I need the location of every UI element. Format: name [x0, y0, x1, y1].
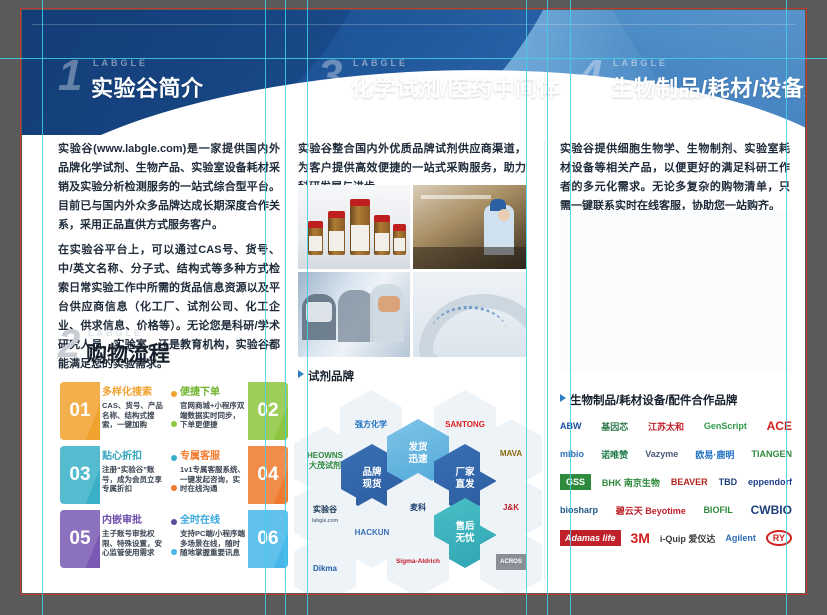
flow-step-05-number: 05 — [60, 510, 100, 568]
guide-horizontal — [0, 58, 827, 59]
brand-logo-vazyme: Vazyme — [645, 449, 678, 459]
hexagon-brand-cluster: 强方化学 SANTONG HEOWNS大茂试剂 品牌现货 发货迅速 厂家直发 — [294, 408, 534, 578]
flow-step-01-desc: CAS、货号、产品名称、结构式搜索，一键加购 — [102, 401, 168, 430]
flow-dot-5 — [171, 519, 177, 525]
photo-sample-tubes — [413, 272, 526, 357]
flow-step-04-title: 专属客服 — [180, 451, 246, 463]
column-2: 实验谷整合国内外优质品牌试剂供应商渠道，为客户提供高效便捷的一站式采购服务，助力… — [290, 10, 540, 593]
flow-step-03[interactable]: 03 贴心折扣 注册“实验谷”账号，成为会员立享专属折扣 — [60, 446, 168, 504]
brand-logo-biosharp: biosharp — [560, 505, 598, 515]
brand-logo-bhk: BHK 南京生物 — [602, 476, 660, 489]
bio-image-placeholder — [560, 210, 792, 372]
section-2-header: 2 LABGLE 购物流程 — [58, 328, 288, 374]
section-2-number: 2 — [58, 324, 80, 364]
guide-vertical — [786, 0, 787, 615]
shopping-flow-diagram: 01 多样化搜索 CAS、货号、产品名称、结构式搜索，一键加购 02 便捷下单 … — [60, 382, 288, 572]
flow-step-02[interactable]: 02 便捷下单 官网商城+小程序双端数据实时同步，下单更便捷 — [180, 382, 288, 440]
reagent-photo-grid — [298, 185, 526, 357]
brand-logo-3m: 3M — [630, 530, 649, 546]
flow-step-04[interactable]: 04 专属客服 1v1专属客服系统、一键发起咨询，实时在线沟通 — [180, 446, 288, 504]
flow-dot-1 — [171, 391, 177, 397]
brand-logo-beaver: BEAVER — [671, 477, 708, 487]
guide-vertical — [547, 0, 548, 615]
flow-dot-6 — [171, 549, 177, 555]
guide-vertical — [307, 0, 308, 615]
flow-step-06-title: 全时在线 — [180, 515, 246, 527]
brand-logo-agilent: Agilent — [725, 533, 756, 543]
intro-paragraph-1: 实验谷(www.labgle.com)是一家提供国内外品牌化学试剂、生物产品、实… — [58, 140, 280, 235]
flow-step-01-title: 多样化搜索 — [102, 387, 168, 399]
section-2-title: 购物流程 — [86, 338, 170, 368]
guide-vertical — [526, 0, 527, 615]
column-1: 实验谷(www.labgle.com)是一家提供国内外品牌化学试剂、生物产品、实… — [30, 10, 282, 593]
flow-step-02-number: 02 — [248, 382, 288, 440]
flow-step-01-number: 01 — [60, 382, 100, 440]
bio-brand-grid: ABW 基因芯 江苏太和 GenScript ACE mibio 诺唯赞 Vaz… — [560, 412, 792, 552]
bio-brands-heading: 生物制品/耗材设备/配件合作品牌 — [570, 392, 737, 408]
guide-vertical — [265, 0, 266, 615]
brand-logo-gss: GSS — [560, 474, 591, 490]
design-canvas: 1 LABGLE 实验谷简介 3 LABGLE 化学试剂/医药中间体 4 LAB… — [0, 0, 827, 615]
column-3: 实验谷提供细胞生物学、生物制剂、实验室耗材设备等相关产品，以便更好的满足科研工作… — [550, 10, 800, 593]
flow-step-01[interactable]: 01 多样化搜索 CAS、货号、产品名称、结构式搜索，一键加购 — [60, 382, 168, 440]
brand-logo-ace: ACE — [767, 419, 792, 433]
photo-fume-hood-operator — [413, 185, 526, 269]
guide-vertical — [285, 0, 286, 615]
brand-logo-ry: RY — [766, 530, 792, 546]
artboard: 1 LABGLE 实验谷简介 3 LABGLE 化学试剂/医药中间体 4 LAB… — [22, 10, 805, 593]
bio-brand-row: ABW 基因芯 江苏太和 GenScript ACE — [560, 412, 792, 440]
guide-vertical — [570, 0, 571, 615]
flow-step-05-desc: 主子账号审批权限、特殊设置，安心监管使用需求 — [102, 529, 168, 558]
brand-logo-iquip: i-Quip 爱仪达 — [660, 532, 716, 545]
reagent-brands-heading: 试剂品牌 — [308, 368, 354, 384]
brand-logo-biofil: BIOFIL — [703, 505, 733, 515]
flow-step-03-desc: 注册“实验谷”账号，成为会员立享专属折扣 — [102, 465, 168, 494]
brand-logo-tbd: TBD — [719, 477, 738, 487]
flow-step-06[interactable]: 06 全时在线 支持PC端/小程序端多场景在线，随时随地掌握重要讯息 — [180, 510, 288, 568]
brand-logo-mibio: mibio — [560, 449, 584, 459]
brand-logo-beyotime: 碧云天 Beyotime — [616, 504, 686, 517]
flow-dot-4 — [171, 485, 177, 491]
flow-step-06-number: 06 — [248, 510, 288, 568]
guide-vertical — [42, 0, 43, 615]
brand-logo-genscript: GenScript — [704, 421, 747, 431]
bio-brand-row: GSS BHK 南京生物 BEAVER TBD eppendorf — [560, 468, 792, 496]
photo-reagent-bottles — [298, 185, 410, 269]
fold-separator-right — [544, 140, 545, 580]
flow-step-02-desc: 官网商城+小程序双端数据实时同步，下单更便捷 — [180, 401, 246, 430]
flow-dot-2 — [171, 421, 177, 427]
brand-logo-genecore: 基因芯 — [601, 420, 628, 433]
brand-logo-oebiotech: 欧易·鹿明 — [695, 448, 734, 461]
flow-step-04-number: 04 — [248, 446, 288, 504]
brand-logo-novozan: 诺唯赞 — [601, 448, 628, 461]
photo-cleanroom-staff — [298, 272, 410, 357]
bio-brand-row: biosharp 碧云天 Beyotime BIOFIL CWBIO — [560, 496, 792, 524]
bio-paragraph: 实验谷提供细胞生物学、生物制剂、实验室耗材设备等相关产品，以便更好的满足科研工作… — [560, 140, 790, 216]
flow-step-03-title: 贴心折扣 — [102, 451, 168, 463]
bio-brand-row: mibio 诺唯赞 Vazyme 欧易·鹿明 TIANGEN — [560, 440, 792, 468]
flow-dot-3 — [171, 455, 177, 461]
flow-step-04-desc: 1v1专属客服系统、一键发起咨询，实时在线沟通 — [180, 465, 246, 494]
flow-step-06-desc: 支持PC端/小程序端多场景在线，随时随地掌握重要讯息 — [180, 529, 246, 558]
flow-step-03-number: 03 — [60, 446, 100, 504]
flow-step-05[interactable]: 05 内嵌审批 主子账号审批权限、特殊设置，安心监管使用需求 — [60, 510, 168, 568]
flow-step-02-title: 便捷下单 — [180, 387, 246, 399]
section-2-eyebrow: LABGLE — [88, 328, 143, 338]
brand-logo-jiangsu-taihe: 江苏太和 — [648, 420, 684, 433]
flow-step-05-title: 内嵌审批 — [102, 515, 168, 527]
bio-brand-row: Adamas life 3M i-Quip 爱仪达 Agilent RY — [560, 524, 792, 552]
